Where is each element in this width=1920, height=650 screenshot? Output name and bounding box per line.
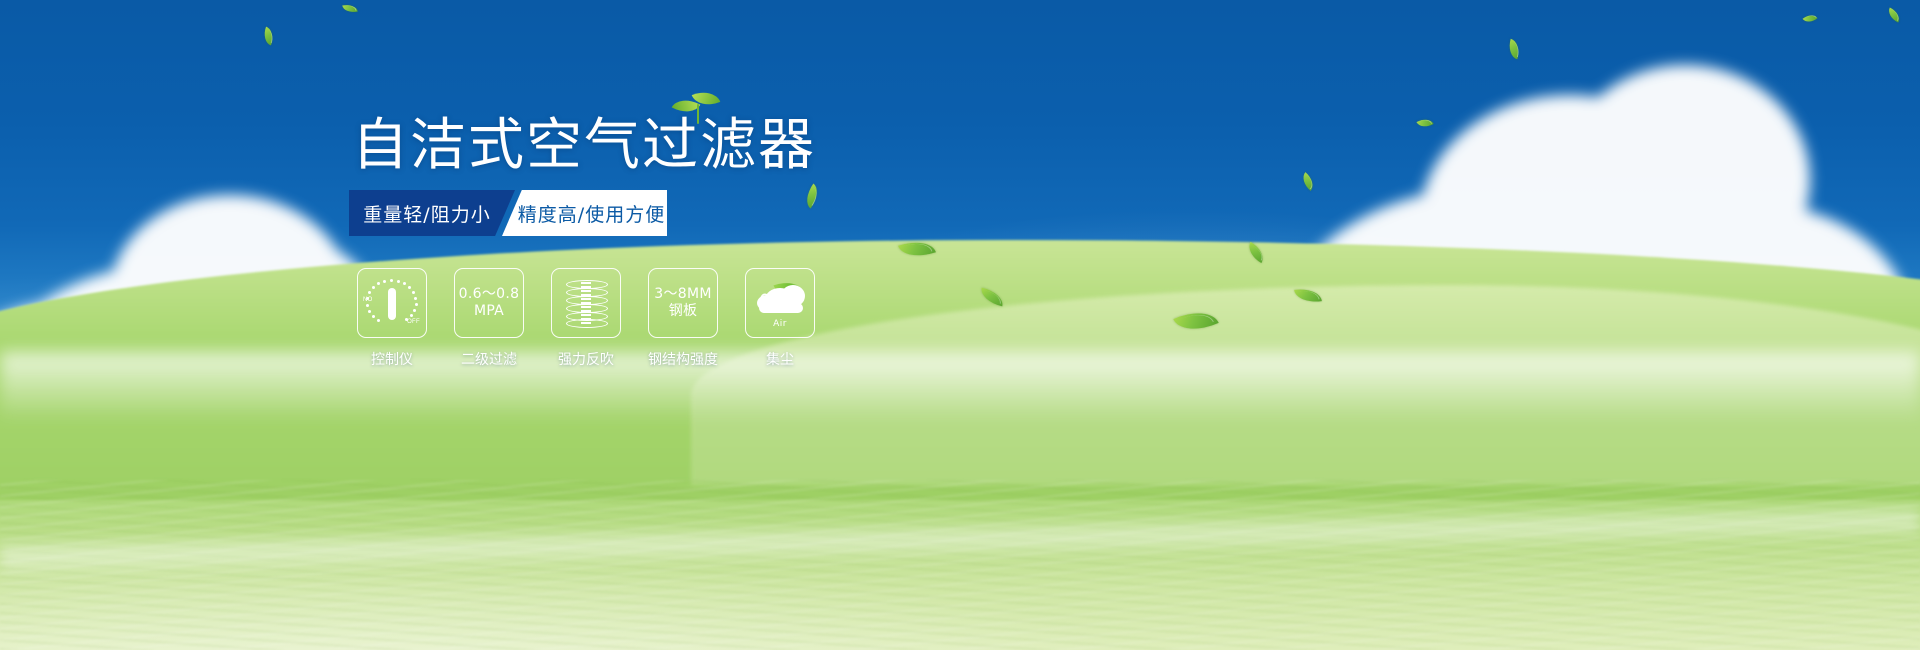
feature-list: NO OFF 控制仪 0.6～0.8 MPA 二级过滤 bbox=[356, 268, 816, 369]
banner-title: 自洁式空气过滤器 bbox=[352, 118, 816, 174]
hero-banner: 自洁式空气过滤器 重量轻/阻力小 精度高/使用方便 bbox=[0, 0, 1920, 650]
steel-thickness: 3～8MM bbox=[654, 286, 711, 303]
tagline-primary: 重量轻/阻力小 bbox=[349, 190, 515, 236]
feature-item-dust: Air 集尘 bbox=[744, 268, 816, 369]
feature-label: 控制仪 bbox=[371, 349, 413, 369]
feature-item-pressure: 0.6～0.8 MPA 二级过滤 bbox=[453, 268, 525, 369]
feature-label: 钢结构强度 bbox=[648, 349, 718, 369]
tagline-group: 重量轻/阻力小 精度高/使用方便 bbox=[349, 190, 667, 236]
feature-icon-box bbox=[551, 268, 621, 338]
pressure-unit: MPA bbox=[474, 303, 504, 320]
gauge-icon: NO OFF bbox=[366, 279, 418, 327]
gauge-label-off: OFF bbox=[407, 319, 420, 325]
tagline-secondary: 精度高/使用方便 bbox=[502, 190, 667, 236]
air-label: Air bbox=[753, 319, 807, 329]
feature-label: 集尘 bbox=[766, 349, 794, 369]
feature-icon-box: NO OFF bbox=[357, 268, 427, 338]
feature-label: 二级过滤 bbox=[461, 349, 517, 369]
feature-icon-box: Air bbox=[745, 268, 815, 338]
steel-material: 钢板 bbox=[669, 303, 698, 320]
air-cloud-icon: Air bbox=[753, 279, 807, 327]
banner-content: 自洁式空气过滤器 重量轻/阻力小 精度高/使用方便 bbox=[0, 0, 1920, 650]
gauge-label-on: NO bbox=[363, 297, 373, 303]
feature-label: 强力反吹 bbox=[558, 349, 614, 369]
feature-item-control: NO OFF 控制仪 bbox=[356, 268, 428, 369]
sprout-leaf-icon bbox=[672, 88, 728, 126]
feature-icon-box: 0.6～0.8 MPA bbox=[454, 268, 524, 338]
feature-item-blowback: 强力反吹 bbox=[550, 268, 622, 369]
feature-icon-box: 3～8MM 钢板 bbox=[648, 268, 718, 338]
pressure-value: 0.6～0.8 bbox=[459, 286, 520, 303]
feature-item-steel: 3～8MM 钢板 钢结构强度 bbox=[647, 268, 719, 369]
coil-icon bbox=[566, 279, 606, 327]
